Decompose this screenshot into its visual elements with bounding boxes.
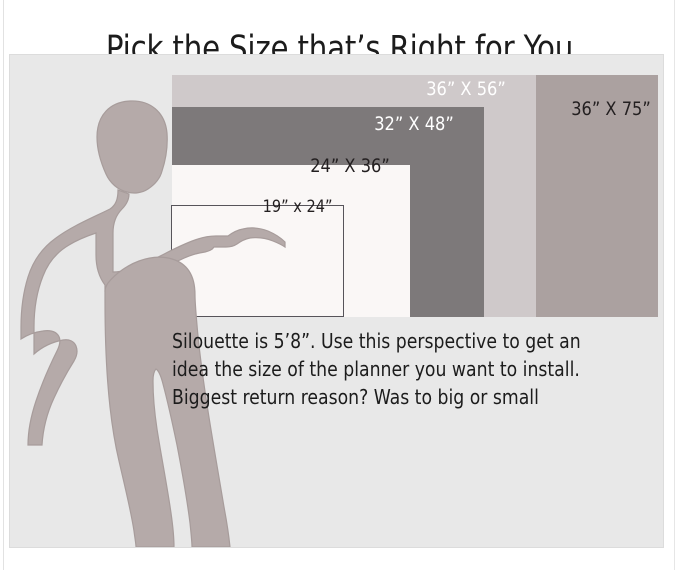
size-label-24x36: 24” X 36”: [310, 155, 390, 177]
diagram-panel: 36” X 75” 36” X 56” 32” X 48” 24” X 36”: [10, 55, 663, 547]
frame-line-right: [674, 0, 675, 570]
description-line-2: idea the size of the planner you want to…: [172, 355, 642, 383]
size-rect-36x75[interactable]: 36” X 75”: [536, 75, 658, 317]
description-line-3: Biggest return reason? Was to big or sma…: [172, 383, 642, 411]
size-label-19x24: 19” x 24”: [263, 197, 333, 217]
size-label-32x48: 32” X 48”: [374, 113, 454, 135]
size-label-36x75: 36” X 75”: [571, 98, 651, 120]
size-rect-19x24[interactable]: [171, 205, 344, 317]
frame-line-left: [3, 0, 4, 570]
size-label-36x56: 36” X 56”: [426, 78, 506, 100]
infographic-canvas: Pick the Size that’s Right for You 36” X…: [0, 0, 679, 570]
description-line-1: Silouette is 5’8”. Use this perspective …: [172, 327, 642, 355]
description-text: Silouette is 5’8”. Use this perspective …: [172, 327, 642, 411]
